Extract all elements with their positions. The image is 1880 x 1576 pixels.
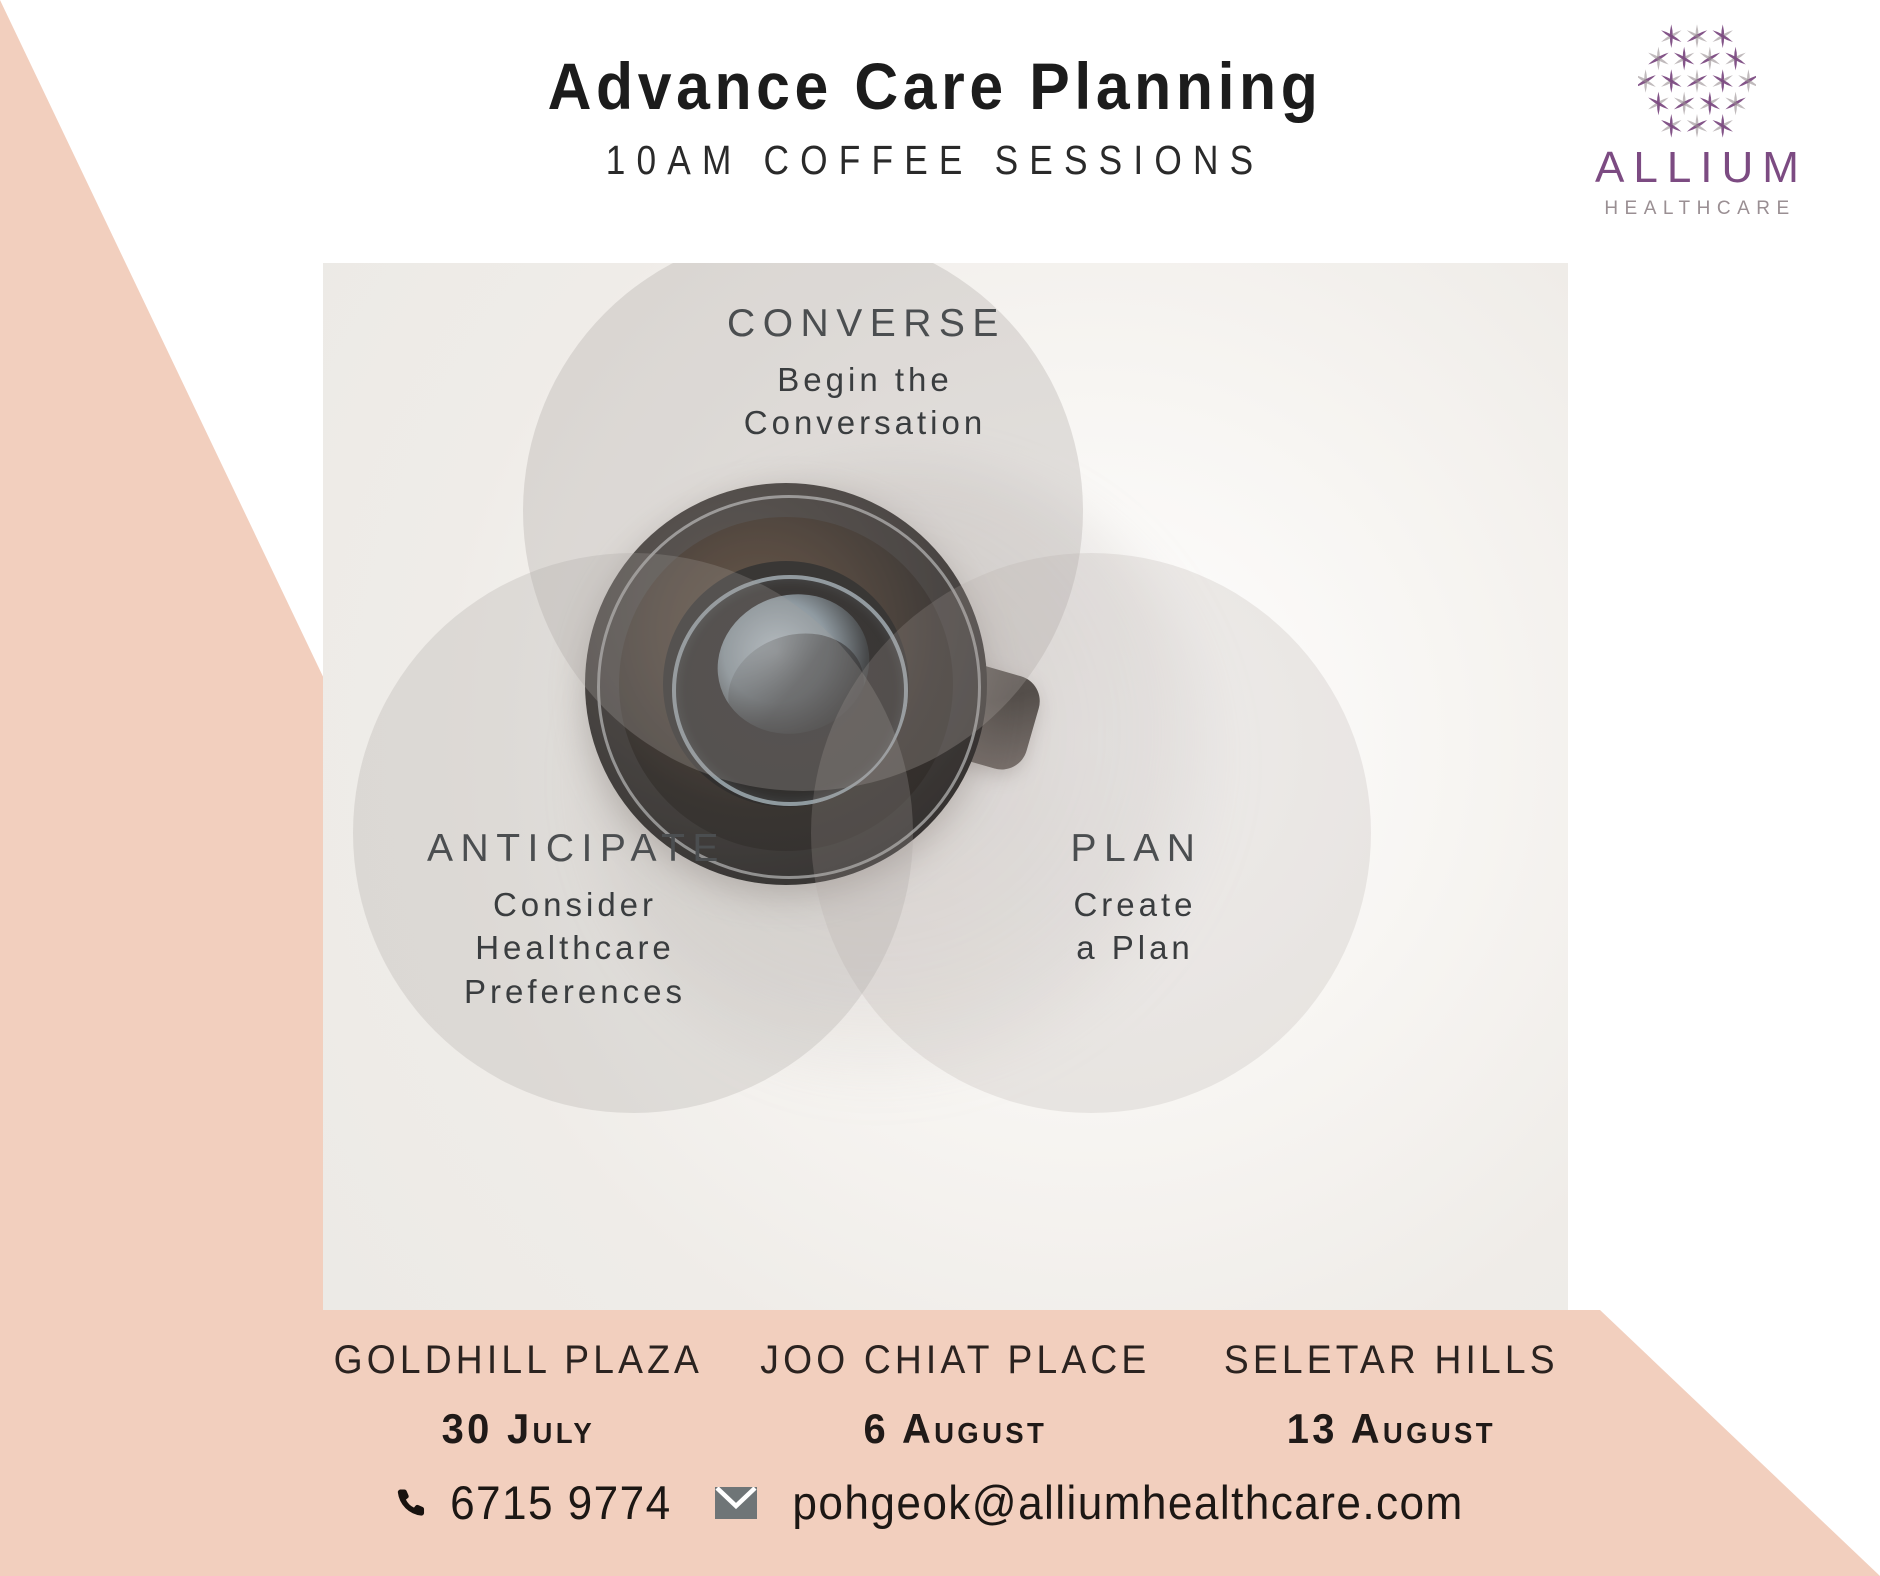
email-address: pohgeok@alliumhealthcare.com [792,1475,1463,1530]
venn-subtext-line: a Plan [963,926,1303,970]
venn-subtext-line: Consider [363,883,783,927]
phone-icon [395,1486,429,1520]
venn-label-anticipate: ANTICIPATE Consider Healthcare Preferenc… [363,828,783,1014]
venn-subtext-plan: Create a Plan [963,883,1303,970]
venn-subtext-anticipate: Consider Healthcare Preferences [363,883,783,1014]
poster-footer: GOLDHILL PLAZA 30 July JOO CHIAT PLACE 6… [0,1310,1880,1576]
venn-subtext-line: Preferences [363,970,783,1014]
brand-logo: ALLIUM HEALTHCARE [1572,22,1822,220]
venn-heading-plan: PLAN [963,828,1303,871]
venn-subtext-line: Begin the [653,358,1073,402]
email-contact[interactable]: pohgeok@alliumhealthcare.com [697,1475,1485,1530]
session-locations: GOLDHILL PLAZA 30 July JOO CHIAT PLACE 6… [300,1338,1610,1453]
poster-header: Advance Care Planning 10AM COFFEE SESSIO… [0,0,1880,263]
venn-heading-converse: CONVERSE [653,303,1073,346]
venn-diagram: CONVERSE Begin the Conversation ANTICIPA… [323,263,1568,1310]
allium-flower-emblem-icon [1638,22,1756,140]
venn-subtext-line: Conversation [653,401,1073,445]
session-entry: SELETAR HILLS 13 August [1173,1338,1610,1453]
venn-subtext-line: Healthcare [363,926,783,970]
phone-number: 6715 9774 [450,1475,672,1530]
brand-name: ALLIUM [1572,146,1822,190]
session-date: 30 July [311,1405,726,1453]
brand-tagline: HEALTHCARE [1572,198,1822,220]
envelope-icon [715,1487,757,1519]
venn-photo-panel: CONVERSE Begin the Conversation ANTICIPA… [323,263,1568,1310]
contact-row: 6715 9774 pohgeok@alliumhealthcare.com [0,1475,1880,1530]
phone-contact[interactable]: 6715 9774 [395,1475,679,1530]
session-date: 6 August [748,1405,1163,1453]
title-block: Advance Care Planning 10AM COFFEE SESSIO… [400,52,1470,184]
venn-label-plan: PLAN Create a Plan [963,828,1303,970]
poster-root: Advance Care Planning 10AM COFFEE SESSIO… [0,0,1880,1576]
session-location-name: SELETAR HILLS [1189,1338,1595,1383]
page-subtitle: 10AM COFFEE SESSIONS [475,137,1395,184]
venn-heading-anticipate: ANTICIPATE [363,828,783,871]
venn-label-converse: CONVERSE Begin the Conversation [653,303,1073,445]
venn-subtext-converse: Begin the Conversation [653,358,1073,445]
session-entry: GOLDHILL PLAZA 30 July [300,1338,737,1453]
session-entry: JOO CHIAT PLACE 6 August [737,1338,1174,1453]
venn-subtext-line: Create [963,883,1303,927]
session-location-name: GOLDHILL PLAZA [315,1338,721,1383]
page-title: Advance Care Planning [443,52,1427,121]
session-location-name: JOO CHIAT PLACE [752,1338,1158,1383]
session-date: 13 August [1184,1405,1599,1453]
